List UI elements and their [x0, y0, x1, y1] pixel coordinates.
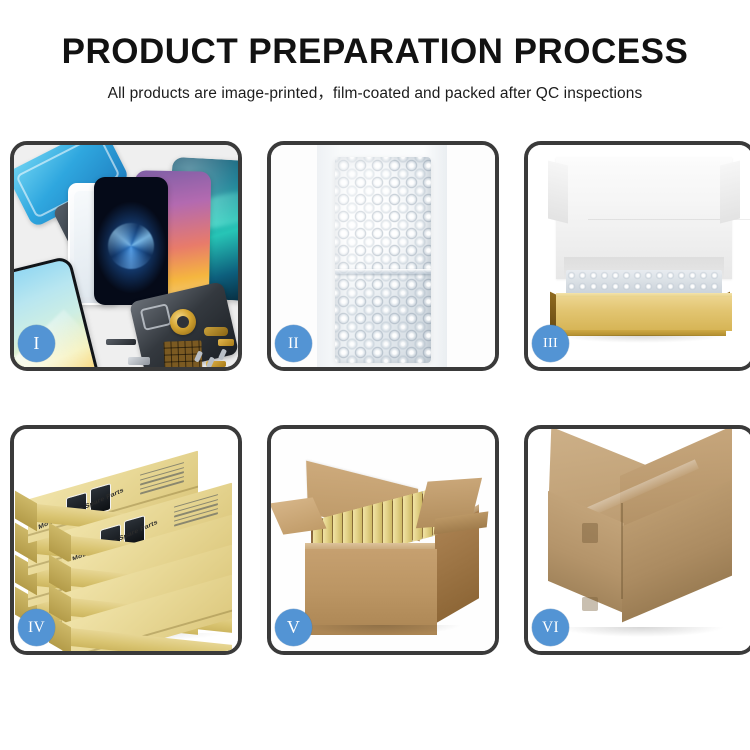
retail-box-in-carton	[403, 494, 412, 544]
screws-group	[194, 349, 234, 367]
step-panel-bubble-wrap[interactable]: II	[267, 141, 499, 371]
screw-icon	[206, 356, 215, 367]
screw-icon	[194, 350, 203, 362]
step-badge-3: III	[532, 325, 569, 362]
step-badge-1: I	[18, 325, 55, 362]
part-connector-graphic	[128, 357, 150, 365]
step-badge-6: VI	[532, 609, 569, 646]
step-badge-2: II	[275, 325, 312, 362]
lid-crease-line	[588, 219, 750, 220]
carton-handle-tab	[582, 523, 598, 543]
step-panel-products[interactable]: I	[10, 141, 242, 371]
page-title: PRODUCT PREPARATION PROCESS	[0, 34, 750, 71]
screw-icon	[218, 348, 227, 360]
spare-parts-cluster	[106, 321, 238, 367]
process-step-grid: I II	[10, 141, 740, 655]
bubble-wrapped-unit	[335, 157, 431, 363]
phone-black-graphic	[94, 177, 168, 305]
kraft-box-front-face	[556, 297, 732, 331]
step-badge-5: V	[275, 609, 312, 646]
step-panel-sealed-carton[interactable]: VI	[524, 425, 750, 655]
step-panel-master-carton[interactable]: V	[267, 425, 499, 655]
part-flex-cable-graphic	[204, 327, 228, 336]
step-badge-4: IV	[18, 609, 55, 646]
carton-handle-tab	[582, 597, 598, 611]
drop-shadow	[301, 625, 461, 635]
drop-shadow	[558, 627, 724, 637]
carton-corner-seam	[621, 503, 623, 599]
part-coil-graphic	[170, 309, 196, 335]
step-panel-labeled-boxes[interactable]: Mobile Phone Spare Parts	[10, 425, 242, 655]
part-battery-graphic	[106, 339, 136, 345]
carton-front-face	[305, 549, 437, 635]
step-panel-inner-box[interactable]: III	[524, 141, 750, 371]
header: PRODUCT PREPARATION PROCESS All products…	[0, 0, 750, 103]
page-subtitle: All products are image-printed，film-coat…	[0, 81, 750, 103]
part-bracket-graphic	[218, 339, 234, 346]
retail-box-in-carton	[393, 497, 402, 547]
drop-shadow	[558, 335, 726, 343]
